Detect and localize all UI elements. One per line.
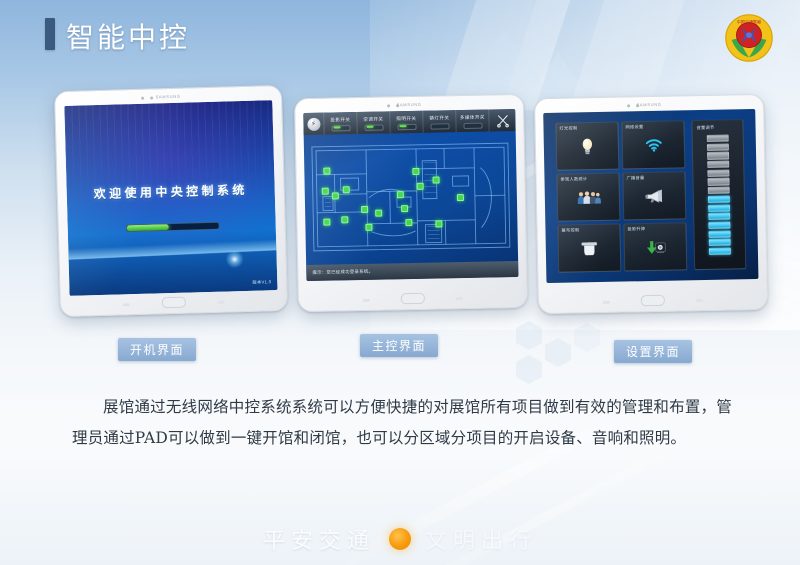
boot-progress-fill [127,224,169,231]
device-marker[interactable] [375,210,383,218]
tile-projector-lift[interactable]: 投影升降 [623,222,687,271]
status-bar: 提示：您已经成功登录系统。 [306,261,518,281]
volume-segment[interactable] [708,204,730,212]
background-hexagon [516,328,542,343]
status-text: 提示：您已经成功登录系统。 [312,269,373,276]
volume-segment[interactable] [707,152,729,160]
home-button[interactable] [641,295,665,306]
device-marker[interactable] [323,168,331,176]
svg-text:中国交通警察: 中国交通警察 [737,19,761,25]
tile-lighting-control[interactable]: 灯光控制 [555,122,619,171]
tab-label: 空调开关 [363,116,383,122]
tab-multimedia-switch[interactable]: 多媒体开关 [455,110,488,133]
tablet-main-control: SAMSUNG ⚡ 投影开关 空调开关 照明开关 镇灯开关 [294,94,528,312]
footer-right-text: 文明出行 [425,523,537,555]
title-accent-bar [45,18,55,50]
body-paragraph: 展馆通过无线网络中控系统系统可以方便快捷的对展馆所有项目做到有效的管理和布置，管… [72,392,732,454]
toggle-switch[interactable] [463,122,482,128]
tab-ac-switch[interactable]: 空调开关 [356,111,389,134]
device-marker[interactable] [405,219,413,227]
main-control-screen: ⚡ 投影开关 空调开关 照明开关 镇灯开关 多媒 [303,109,518,281]
device-marker[interactable] [332,192,340,200]
slide-root: 智能中控 中国交通警察 SAMSUNG 欢迎使用中央控制系统 [0,0,800,565]
background-triangle [452,30,556,102]
projector-screen-icon [580,241,599,255]
caption-boot-screen: 开机界面 [118,338,196,361]
volume-segment[interactable] [709,239,731,247]
tab-projector-switch[interactable]: 投影开关 [323,112,356,135]
tile-label: 广播音量 [626,175,644,181]
home-button[interactable] [401,293,425,304]
settings-layout: 灯光控制 网络设置 [543,109,758,283]
menu-softkey[interactable] [363,299,370,302]
device-marker[interactable] [432,176,440,184]
tab-label: 照明开关 [396,115,416,121]
back-softkey[interactable] [696,299,703,302]
app-logo-disc: ⚡ [307,117,320,130]
volume-segment[interactable] [708,213,730,221]
back-softkey[interactable] [456,297,463,300]
tab-label: 镇灯开关 [429,115,449,121]
device-marker[interactable] [361,206,369,214]
floor-plan[interactable] [304,131,518,265]
boot-wave-decoration [68,240,277,271]
tile-network-settings[interactable]: 网络设置 [621,120,685,169]
volume-segment[interactable] [707,161,729,169]
tablet-boot-screen: SAMSUNG 欢迎使用中央控制系统 版本V1.0 [54,85,288,317]
volume-segment[interactable] [708,178,730,186]
volume-panel-title: 音量调节 [696,125,714,131]
volume-segment[interactable] [707,143,729,151]
tab-lamp-switch[interactable]: 镇灯开关 [422,110,455,133]
tablet-brand-label: SAMSUNG [295,100,523,109]
menu-softkey[interactable] [123,303,130,306]
scissors-icon[interactable] [488,109,515,132]
tablet-brand-label: SAMSUNG [535,100,763,109]
wifi-icon [644,138,662,152]
megaphone-icon [645,189,664,203]
caption-settings: 设置界面 [614,340,692,363]
volume-segment[interactable] [707,169,729,177]
boot-screen: 欢迎使用中央控制系统 版本V1.0 [64,100,277,296]
volume-panel: 音量调节 [691,119,746,270]
volume-segment[interactable] [708,221,730,229]
boot-spark-decoration [225,250,243,268]
tab-label: 投影开关 [330,117,350,123]
tile-label: 灯光控制 [559,125,577,131]
device-marker[interactable] [323,219,331,227]
toggle-switch[interactable] [397,123,416,129]
volume-level-meter[interactable] [707,134,731,255]
device-marker[interactable] [397,191,405,199]
device-marker[interactable] [412,168,420,176]
device-marker[interactable] [417,183,425,191]
tab-lighting-switch[interactable]: 照明开关 [389,111,422,134]
people-icon [576,190,600,204]
caption-main-control: 主控界面 [360,334,438,357]
volume-segment[interactable] [709,247,731,255]
device-marker[interactable] [435,220,443,228]
background-hexagon [545,345,571,360]
boot-version-label: 版本V1.0 [252,279,271,286]
tab-label: 多媒体开关 [460,114,485,120]
tile-label: 投影升降 [627,226,645,232]
background-hexagon [574,330,600,345]
menu-softkey[interactable] [603,301,610,304]
volume-segment[interactable] [708,187,730,195]
settings-tile-grid: 灯光控制 网络设置 [555,120,687,272]
footer-left-text: 平安交通 [263,523,375,555]
settings-screen: 灯光控制 网络设置 [543,109,758,283]
tile-broadcast-volume[interactable]: 广播音量 [622,171,686,220]
projector-lift-icon [645,239,665,254]
footer-dot-icon [389,528,411,550]
tile-visitor-count[interactable]: 参观人数统计 [556,173,620,222]
volume-segment[interactable] [708,195,730,203]
toggle-switch[interactable] [430,123,449,129]
tile-label: 幕布控制 [561,227,579,233]
footer-watermark: 平安交通 文明出行 [0,523,800,555]
traffic-police-emblem: 中国交通警察 [720,9,778,67]
device-marker[interactable] [401,205,409,213]
page-title: 智能中控 [66,16,190,56]
tablet-settings: SAMSUNG 灯光控制 网络设置 [534,94,768,314]
tile-label: 网络设置 [625,124,643,130]
background-hexagon [516,362,542,377]
volume-segment[interactable] [707,134,729,142]
volume-segment[interactable] [709,230,731,238]
device-marker[interactable] [365,224,373,232]
boot-progress-track [126,221,220,232]
toggle-switch[interactable] [364,124,383,130]
toggle-switch[interactable] [331,125,350,131]
app-logo: ⚡ [303,113,323,135]
device-marker[interactable] [343,186,351,194]
tile-label: 参观人数统计 [560,176,587,183]
home-button[interactable] [162,297,186,309]
tile-screen-control[interactable]: 幕布控制 [557,224,621,273]
device-marker[interactable] [341,216,349,224]
device-marker[interactable] [322,188,330,196]
lightbulb-icon [580,137,595,156]
back-softkey[interactable] [218,301,225,304]
device-marker[interactable] [457,194,465,202]
